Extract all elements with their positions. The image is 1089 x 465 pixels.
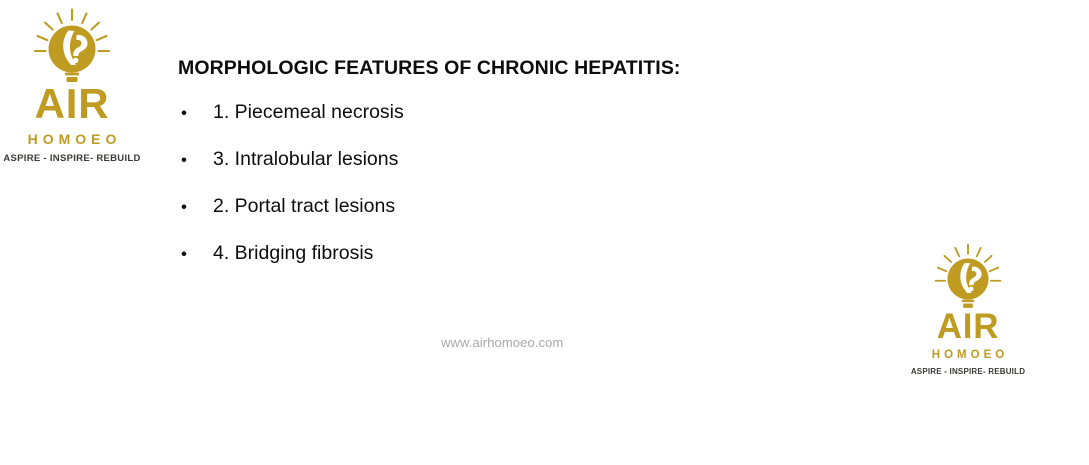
slide-title: MORPHOLOGIC FEATURES OF CHRONIC HEPATITI… — [178, 56, 938, 80]
bullet-marker-icon: • — [181, 104, 187, 121]
brand-logo-secondary: AIR HOMOEO ASPIRE - INSPIRE- REBUILD — [912, 243, 1024, 376]
list-item-label: 2. Portal tract lesions — [213, 195, 395, 218]
list-item-label: 4. Bridging fibrosis — [213, 242, 373, 265]
list-item: • 1. Piecemeal necrosis — [178, 89, 938, 136]
list-item: • 2. Portal tract lesions — [178, 183, 938, 230]
logo-tagline-text: ASPIRE - INSPIRE- REBUILD — [911, 368, 1025, 376]
slide-content: MORPHOLOGIC FEATURES OF CHRONIC HEPATITI… — [178, 56, 938, 277]
logo-brand-text: AIR — [937, 309, 999, 344]
list-item-label: 3. Intralobular lesions — [213, 148, 398, 171]
logo-brand-text: AIR — [35, 83, 110, 125]
logo-tagline-text: ASPIRE - INSPIRE- REBUILD — [3, 154, 140, 164]
bullet-marker-icon: • — [181, 198, 187, 215]
lightbulb-thinker-icon — [926, 243, 1010, 308]
list-item-label: 1. Piecemeal necrosis — [213, 101, 404, 124]
lightbulb-thinker-icon — [24, 8, 120, 82]
brand-logo-primary: AIR HOMOEO ASPIRE - INSPIRE- REBUILD — [8, 8, 136, 164]
logo-subbrand-text: HOMOEO — [23, 132, 122, 146]
list-item: • 3. Intralobular lesions — [178, 136, 938, 183]
website-watermark: www.airhomoeo.com — [441, 335, 563, 350]
logo-subbrand-text: HOMOEO — [928, 350, 1008, 362]
bullet-marker-icon: • — [181, 151, 187, 168]
bullet-list: • 1. Piecemeal necrosis • 3. Intralobula… — [178, 89, 938, 277]
slide-canvas: AIR HOMOEO ASPIRE - INSPIRE- REBUILD MOR… — [0, 0, 1089, 465]
bullet-marker-icon: • — [181, 245, 187, 262]
list-item: • 4. Bridging fibrosis — [178, 230, 938, 277]
